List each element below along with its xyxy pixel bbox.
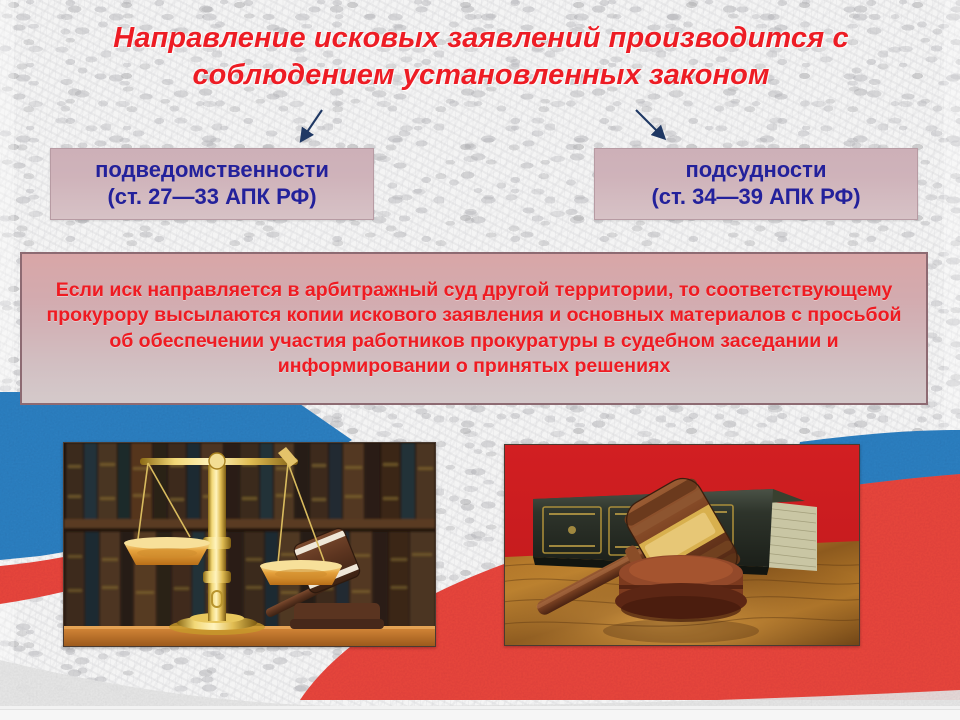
term-box-podvedomstvennost-title: подведомственности bbox=[95, 157, 329, 184]
scales-of-justice-photo bbox=[63, 442, 436, 647]
term-box-podvedomstvennost[interactable]: подведомственности (ст. 27—33 АПК РФ) bbox=[50, 148, 374, 220]
term-box-podsudnost-title: подсудности bbox=[686, 157, 827, 184]
slide-title-line-2: соблюдением установленных законом bbox=[46, 57, 916, 94]
slide-title-line-1: Направление исковых заявлений производит… bbox=[46, 20, 916, 57]
term-box-podsudnost[interactable]: подсудности (ст. 34—39 АПК РФ) bbox=[594, 148, 918, 220]
slide-bottom-strip bbox=[0, 709, 960, 720]
term-box-podvedomstvennost-articles: (ст. 27—33 АПК РФ) bbox=[107, 184, 316, 211]
note-panel: Если иск направляется в арбитражный суд … bbox=[20, 252, 928, 405]
background-books bbox=[64, 443, 435, 628]
slide-title: Направление исковых заявлений производит… bbox=[46, 20, 916, 94]
note-panel-text: Если иск направляется в арбитражный суд … bbox=[44, 278, 904, 379]
presentation-slide: Направление исковых заявлений производит… bbox=[0, 0, 960, 720]
term-box-podsudnost-articles: (ст. 34—39 АПК РФ) bbox=[651, 184, 860, 211]
gavel-on-law-book-photo bbox=[504, 444, 860, 646]
